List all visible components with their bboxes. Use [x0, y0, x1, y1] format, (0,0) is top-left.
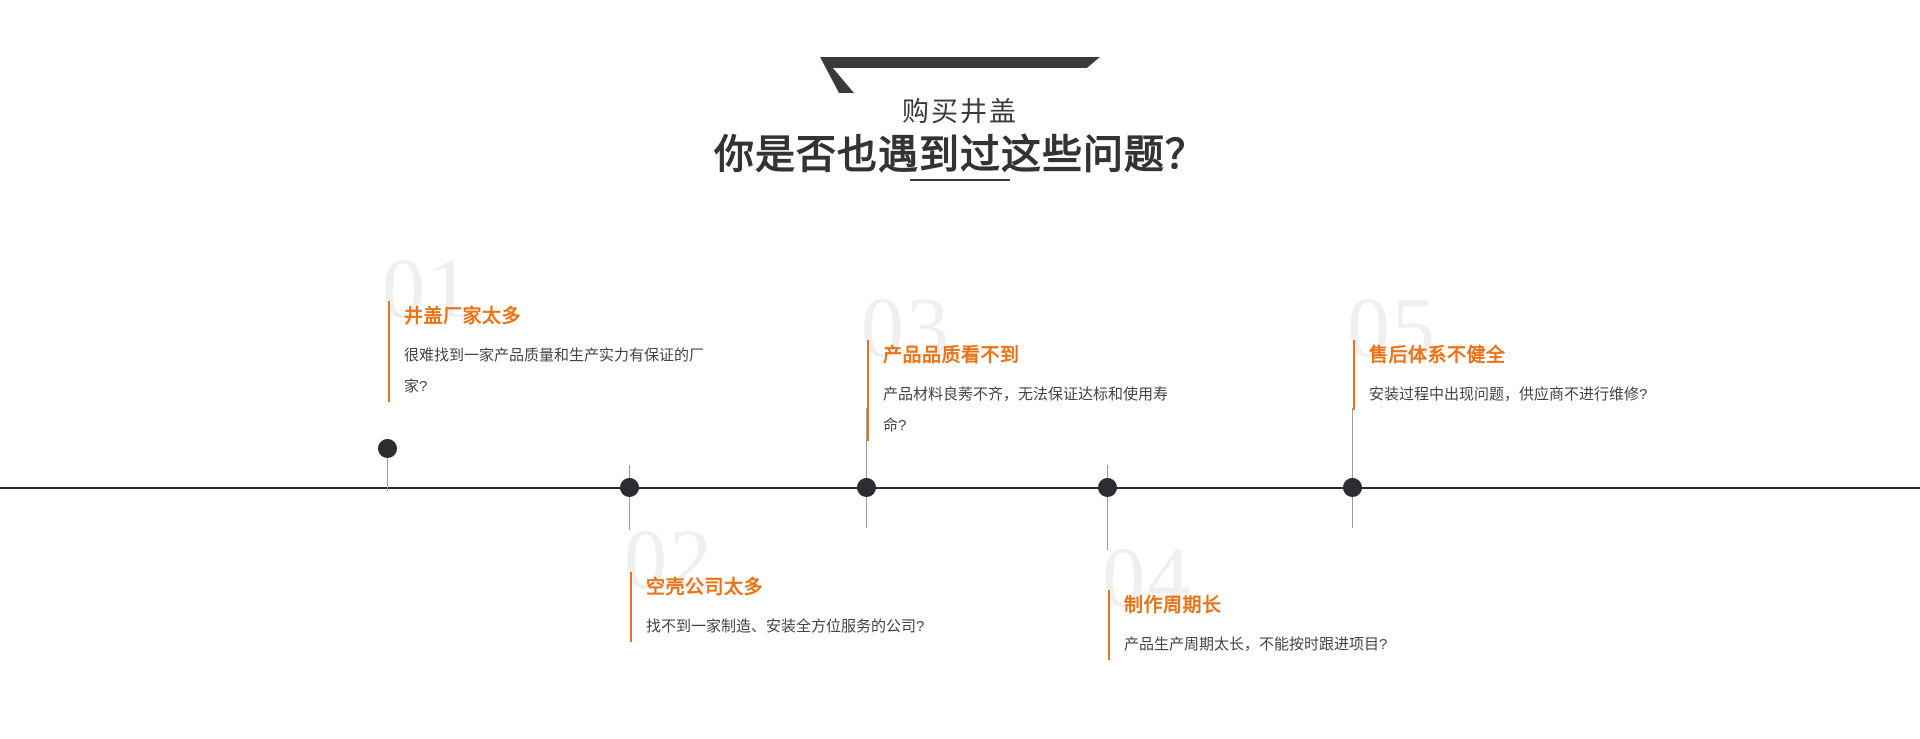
timeline-dot-03[interactable] [857, 478, 876, 497]
timeline-title-03: 产品品质看不到 [883, 340, 1197, 367]
timeline-title-01: 井盖厂家太多 [404, 301, 718, 328]
timeline-card-03: 03 产品品质看不到 产品材料良莠不齐，无法保证达标和使用寿命? [867, 284, 1197, 441]
timeline-title-02: 空壳公司太多 [646, 572, 960, 599]
angle-bracket-ornament-icon [820, 57, 1100, 93]
timeline-title-04: 制作周期长 [1124, 590, 1438, 617]
timeline-dot-05[interactable] [1343, 478, 1362, 497]
timeline-title-05: 售后体系不健全 [1369, 340, 1683, 367]
timeline-dot-04[interactable] [1098, 478, 1117, 497]
timeline-dot-01[interactable] [378, 439, 397, 458]
timeline-dot-02[interactable] [620, 478, 639, 497]
timeline-text-02: 找不到一家制造、安装全方位服务的公司? [646, 611, 946, 642]
timeline-text-03: 产品材料良莠不齐，无法保证达标和使用寿命? [883, 379, 1183, 441]
timeline-card-01: 01 井盖厂家太多 很难找到一家产品质量和生产实力有保证的厂家? [388, 245, 718, 402]
page-title: 你是否也遇到过这些问题？ [0, 122, 1920, 180]
title-divider [910, 179, 1010, 181]
timeline-text-01: 很难找到一家产品质量和生产实力有保证的厂家? [404, 340, 704, 402]
timeline-card-04: 04 制作周期长 产品生产周期太长，不能按时跟进项目? [1108, 534, 1438, 660]
timeline-text-05: 安装过程中出现问题，供应商不进行维修? [1369, 379, 1669, 410]
timeline-axis [0, 487, 1920, 489]
page-header: 购买井盖 你是否也遇到过这些问题？ [0, 0, 1920, 230]
timeline-card-02: 02 空壳公司太多 找不到一家制造、安装全方位服务的公司? [630, 516, 960, 642]
timeline-card-05: 05 售后体系不健全 安装过程中出现问题，供应商不进行维修? [1353, 284, 1683, 410]
connector-line-05 [1352, 408, 1353, 528]
timeline-text-04: 产品生产周期太长，不能按时跟进项目? [1124, 629, 1424, 660]
infographic-page: 购买井盖 你是否也遇到过这些问题？ 01 井盖厂家太多 很难找到一家产品质量和生… [0, 0, 1920, 739]
